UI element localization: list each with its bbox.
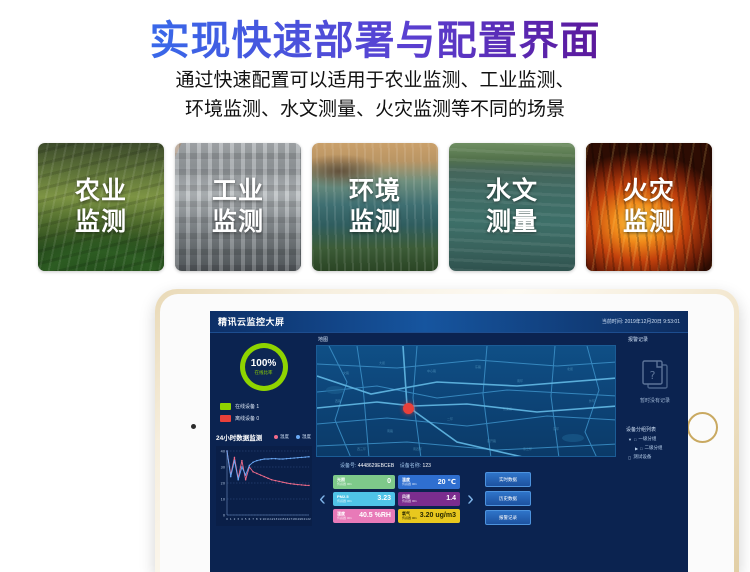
svg-text:1: 1 <box>230 517 232 521</box>
dashboard-body: 100% 在线比率 在线设备 1 离线设备 0 <box>210 333 688 572</box>
category-card-list: 农业 监测 工业 监测 环境 监测 水文 测量 火灾 监测 <box>38 143 712 271</box>
dashboard-header: 精讯云监控大屏 当前时间: 2019年12月20日 9:53:01 <box>210 311 688 333</box>
svg-text:3: 3 <box>237 517 239 521</box>
chart-legend: 温度 湿度 <box>274 434 311 440</box>
humidity-dot-icon <box>296 435 300 439</box>
tile-subtitle: 传感器 001 <box>402 483 417 486</box>
device-group-tree-title: 设备分组列表 <box>626 426 684 433</box>
svg-text:10: 10 <box>221 498 225 502</box>
svg-text:7: 7 <box>252 517 254 521</box>
svg-text:西路: 西路 <box>335 398 341 403</box>
svg-text:北街: 北街 <box>567 366 573 371</box>
alarm-panel-label: 报警记录 <box>628 336 684 343</box>
tree-item-label: 测试设备 <box>633 454 651 460</box>
card-label-line-1: 工业 <box>212 176 264 207</box>
tile-number: 20 <box>438 479 446 486</box>
device-group-tree: 设备分组列表 ▼ □ 一级分组 ▶ □ 二级分组 ◻ <box>626 426 684 460</box>
category-card-label: 水文 测量 <box>449 143 575 271</box>
current-time-value: 2019年12月20日 9:53:01 <box>625 319 680 325</box>
sensor-tile-temperature[interactable]: 温度 传感器 001 20 ℃ <box>398 475 460 489</box>
legend-item-offline: 离线设备 0 <box>220 415 311 422</box>
device-identity: 设备号: 4448629EBCEB 设备名称: 123 <box>340 462 620 469</box>
gauge-label: 在线比率 <box>251 371 277 376</box>
svg-text:大街: 大街 <box>379 360 385 365</box>
gauge-text: 100% 在线比率 <box>251 359 277 376</box>
map-panel-label: 地图 <box>318 336 620 343</box>
tile-name: 光照 <box>337 478 352 482</box>
tile-number: 3.20 <box>420 512 434 519</box>
tile-number: 40.5 <box>359 512 373 519</box>
sensor-tile-humidity[interactable]: 湿度 传感器 001 40.5 %RH <box>333 509 395 523</box>
monitoring-line-chart: 0102030400123456789101112131415161718192… <box>216 446 312 526</box>
svg-text:9: 9 <box>260 517 262 521</box>
tile-value: 20 ℃ <box>438 478 456 486</box>
tile-name: 氧气 <box>402 512 417 516</box>
svg-text:京开路: 京开路 <box>487 438 496 443</box>
tablet-bezel: 精讯云监控大屏 当前时间: 2019年12月20日 9:53:01 100% 在… <box>160 294 734 572</box>
category-card-industry[interactable]: 工业 监测 <box>175 143 301 271</box>
document-question-icon: ? <box>640 359 670 391</box>
svg-text:南四环: 南四环 <box>413 446 422 451</box>
card-label-line-2: 监测 <box>623 207 675 238</box>
category-card-label: 农业 监测 <box>38 143 164 271</box>
online-swatch-icon <box>220 403 231 410</box>
card-label-line-2: 监测 <box>212 207 264 238</box>
tile-value: 0 <box>387 478 391 485</box>
chart-legend-label: 湿度 <box>302 434 311 440</box>
svg-text:西三环: 西三环 <box>357 447 366 451</box>
subtitle-line-1: 通过快速配置可以适用于农业监测、工业监测、 <box>0 66 750 95</box>
temperature-dot-icon <box>274 435 278 439</box>
current-time: 当前时间: 2019年12月20日 9:53:01 <box>602 318 680 325</box>
chart-legend-label: 温度 <box>280 434 289 440</box>
left-panel: 100% 在线比率 在线设备 1 离线设备 0 <box>210 333 316 572</box>
realtime-data-button[interactable]: 实时数据 <box>485 472 531 487</box>
category-card-hydrology[interactable]: 水文 测量 <box>449 143 575 271</box>
next-device-arrow-icon[interactable]: › <box>464 489 477 509</box>
tile-subtitle: 传感器 001 <box>402 517 417 520</box>
center-panel: 地图 <box>316 333 624 572</box>
chevron-down-icon[interactable]: ▼ <box>628 437 632 442</box>
device-name-value: 123 <box>423 463 431 469</box>
gauge-ring: 100% 在线比率 <box>240 343 288 391</box>
category-card-agriculture[interactable]: 农业 监测 <box>38 143 164 271</box>
folder-icon: □ <box>634 437 636 442</box>
tile-name: 温度 <box>402 478 417 482</box>
alarm-records-button[interactable]: 报警记录 <box>485 510 531 525</box>
current-time-label: 当前时间: <box>602 319 623 325</box>
category-card-fire[interactable]: 火灾 监测 <box>586 143 712 271</box>
card-label-line-2: 监测 <box>75 207 127 238</box>
legend-label: 离线设备 0 <box>235 415 259 422</box>
sensor-tile-grid: 光照 传感器 001 0 温度 传感器 001 <box>333 475 460 523</box>
legend-item-online: 在线设备 1 <box>220 403 311 410</box>
tile-subtitle: 传感器 001 <box>402 500 417 503</box>
tile-labels: 氧气 传感器 001 <box>402 512 417 520</box>
tile-value: 40.5 %RH <box>359 512 391 519</box>
device-id-label: 设备号: <box>340 463 356 469</box>
sensor-tile-oxygen[interactable]: 氧气 传感器 001 3.20 ug/m3 <box>398 509 460 523</box>
device-icon: ◻ <box>628 455 631 460</box>
map-location-marker-icon[interactable] <box>403 403 414 414</box>
tile-value: 3.20 ug/m3 <box>420 512 456 519</box>
dashboard-screen: 精讯云监控大屏 当前时间: 2019年12月20日 9:53:01 100% 在… <box>210 311 688 572</box>
card-label-line-2: 监测 <box>349 207 401 238</box>
action-button-group: 实时数据 历史数据 报警记录 <box>485 472 531 525</box>
tile-name: 风速 <box>402 495 417 499</box>
tile-unit: ℃ <box>448 479 456 486</box>
card-label-line-2: 测量 <box>486 207 538 238</box>
chart-legend-item-temperature[interactable]: 温度 <box>274 434 289 440</box>
tile-name: PM2.5 <box>337 495 352 499</box>
tile-subtitle: 传感器 001 <box>337 517 352 520</box>
tablet-device-mockup: 精讯云监控大屏 当前时间: 2019年12月20日 9:53:01 100% 在… <box>155 289 739 572</box>
svg-text:6: 6 <box>248 517 250 521</box>
camera-icon <box>191 424 196 429</box>
tree-item-device[interactable]: ◻ 测试设备 <box>626 454 684 460</box>
svg-text:长安街: 长安街 <box>503 406 512 411</box>
sensor-tile-pm25[interactable]: PM2.5 传感器 001 3.23 <box>333 492 395 506</box>
svg-text:40: 40 <box>221 450 225 454</box>
svg-text:20: 20 <box>221 482 225 486</box>
svg-text:文路: 文路 <box>343 370 349 375</box>
category-card-environment[interactable]: 环境 监测 <box>312 143 438 271</box>
tile-name: 湿度 <box>337 512 352 516</box>
dashboard-title: 精讯云监控大屏 <box>218 315 285 328</box>
right-panel: 报警记录 ? 暂时没有记录 设备分组列表 ▼ <box>624 333 688 572</box>
card-label-line-1: 火灾 <box>623 176 675 207</box>
prev-device-arrow-icon[interactable]: ‹ <box>316 489 329 509</box>
tile-labels: 风速 传感器 001 <box>402 495 417 503</box>
tree-item-label: 一级分组 <box>638 436 656 442</box>
map-roads: 文路大街 中心路东路 南环北街 西路南路 二环长安街 东环外环 南四环京开路 西… <box>317 346 616 457</box>
svg-text:南路: 南路 <box>387 428 393 433</box>
sensor-tile-windspeed[interactable]: 风速 传感器 001 1.4 <box>398 492 460 506</box>
svg-text:二环: 二环 <box>447 417 453 421</box>
card-label-line-1: 水文 <box>486 176 538 207</box>
tile-subtitle: 传感器 001 <box>337 483 352 486</box>
tile-value: 3.23 <box>377 495 391 502</box>
card-label-line-1: 环境 <box>349 176 401 207</box>
svg-text:30: 30 <box>221 466 225 470</box>
gauge-percent: 100% <box>251 359 277 369</box>
tile-subtitle: 传感器 001 <box>337 500 352 503</box>
tile-value: 1.4 <box>446 495 456 502</box>
device-name-label: 设备名称: <box>400 463 421 469</box>
chart-title: 24小时数据监测 <box>216 432 262 442</box>
subtitle-line-2: 环境监测、水文测量、火灾监测等不同的场景 <box>0 95 750 124</box>
chart-header: 24小时数据监测 温度 湿度 <box>216 432 311 442</box>
tile-labels: PM2.5 传感器 001 <box>337 495 352 503</box>
svg-text:外环: 外环 <box>589 398 595 403</box>
svg-text:8: 8 <box>256 517 258 521</box>
tile-unit: ug/m3 <box>435 512 456 519</box>
home-button[interactable] <box>687 412 718 443</box>
tile-labels: 温度 传感器 001 <box>402 478 417 486</box>
tree-item-label: 二级分组 <box>645 445 663 451</box>
page-subtitle: 通过快速配置可以适用于农业监测、工业监测、 环境监测、水文测量、火灾监测等不同的… <box>0 66 750 124</box>
page-title: 实现快速部署与配置界面 <box>0 8 750 66</box>
svg-text:南环: 南环 <box>517 378 523 383</box>
sensor-tile-light[interactable]: 光照 传感器 001 0 <box>333 475 395 489</box>
svg-text:0: 0 <box>226 517 228 521</box>
folder-icon: □ <box>640 446 642 451</box>
svg-text:5: 5 <box>245 517 247 521</box>
alarm-empty-state: ? 暂时没有记录 <box>626 359 684 404</box>
device-id-value: 4448629EBCEB <box>358 463 394 469</box>
legend-label: 在线设备 1 <box>235 403 259 410</box>
chevron-right-icon[interactable]: ▶ <box>635 446 638 451</box>
line-chart-svg: 0102030400123456789101112131415161718192… <box>216 446 312 526</box>
tile-labels: 湿度 传感器 001 <box>337 512 352 520</box>
alarm-empty-text: 暂时没有记录 <box>640 397 670 404</box>
svg-text:中心路: 中心路 <box>427 368 436 373</box>
card-label-line-1: 农业 <box>75 176 127 207</box>
svg-text:4: 4 <box>241 517 243 521</box>
device-status-legend: 在线设备 1 离线设备 0 <box>216 403 311 422</box>
svg-text:?: ? <box>650 369 656 382</box>
category-card-label: 环境 监测 <box>312 143 438 271</box>
category-card-label: 火灾 监测 <box>586 143 712 271</box>
sensor-tile-carousel: ‹ 光照 传感器 001 0 温度 <box>316 472 620 525</box>
tile-unit: %RH <box>375 512 391 519</box>
chart-legend-item-humidity[interactable]: 湿度 <box>296 434 311 440</box>
online-rate-gauge: 100% 在线比率 <box>216 343 311 391</box>
device-location-map[interactable]: 文路大街 中心路东路 南环北街 西路南路 二环长安街 东环外环 南四环京开路 西… <box>316 345 616 457</box>
offline-swatch-icon <box>220 415 231 422</box>
svg-text:2: 2 <box>234 517 236 521</box>
category-card-label: 工业 监测 <box>175 143 301 271</box>
tree-item-level2[interactable]: ▶ □ 二级分组 <box>626 445 684 451</box>
svg-text:东三环: 东三环 <box>523 446 532 451</box>
history-data-button[interactable]: 历史数据 <box>485 491 531 506</box>
tile-labels: 光照 传感器 001 <box>337 478 352 486</box>
tree-item-level1[interactable]: ▼ □ 一级分组 <box>626 436 684 442</box>
svg-text:0: 0 <box>223 514 225 518</box>
svg-text:22: 22 <box>307 517 311 521</box>
svg-text:东路: 东路 <box>475 364 481 369</box>
svg-text:东环: 东环 <box>553 426 559 431</box>
